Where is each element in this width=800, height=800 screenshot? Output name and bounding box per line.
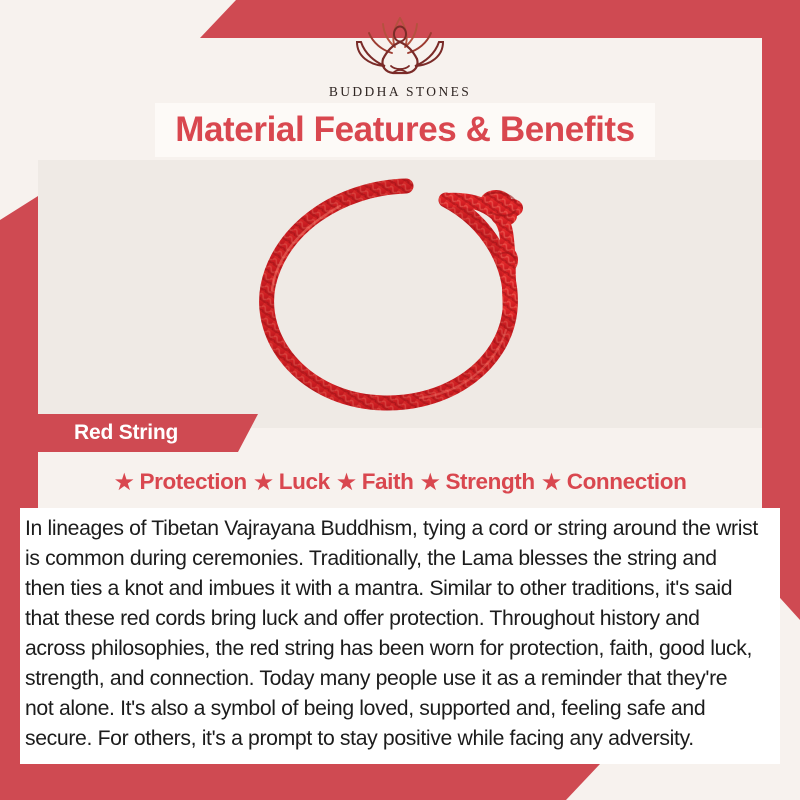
product-label-banner: Red String (38, 414, 258, 452)
star-icon: ★ (336, 471, 358, 493)
feature-label: Faith (362, 469, 414, 495)
star-icon: ★ (253, 471, 275, 493)
feature-item: ★ Protection (114, 469, 247, 495)
description-paragraph: In lineages of Tibetan Vajrayana Buddhis… (25, 514, 758, 754)
features-row: ★ Protection ★ Luck ★ Faith ★ Strength ★… (38, 458, 762, 506)
product-photo (38, 160, 762, 428)
title-banner: Material Features & Benefits (155, 103, 655, 157)
brand-wordmark: BUDDHA STONES (329, 84, 471, 100)
feature-label: Connection (567, 469, 687, 495)
feature-item: ★ Strength (419, 469, 534, 495)
infographic-page: BUDDHA STONES Material Features & Benefi… (0, 0, 800, 800)
star-icon: ★ (114, 471, 136, 493)
star-icon: ★ (541, 471, 563, 493)
feature-item: ★ Luck (253, 469, 330, 495)
feature-label: Strength (445, 469, 534, 495)
description-block: In lineages of Tibetan Vajrayana Buddhis… (20, 508, 780, 764)
feature-item: ★ Connection (541, 469, 687, 495)
star-icon: ★ (419, 471, 441, 493)
feature-label: Luck (279, 469, 330, 495)
lotus-meditation-icon (335, 8, 465, 82)
feature-item: ★ Faith (336, 469, 414, 495)
page-title: Material Features & Benefits (175, 110, 635, 150)
red-string-bracelet-image (220, 162, 580, 426)
brand-logo: BUDDHA STONES (0, 8, 800, 100)
product-label: Red String (74, 421, 178, 445)
feature-label: Protection (140, 469, 247, 495)
frame-bottom-bar (0, 764, 800, 800)
